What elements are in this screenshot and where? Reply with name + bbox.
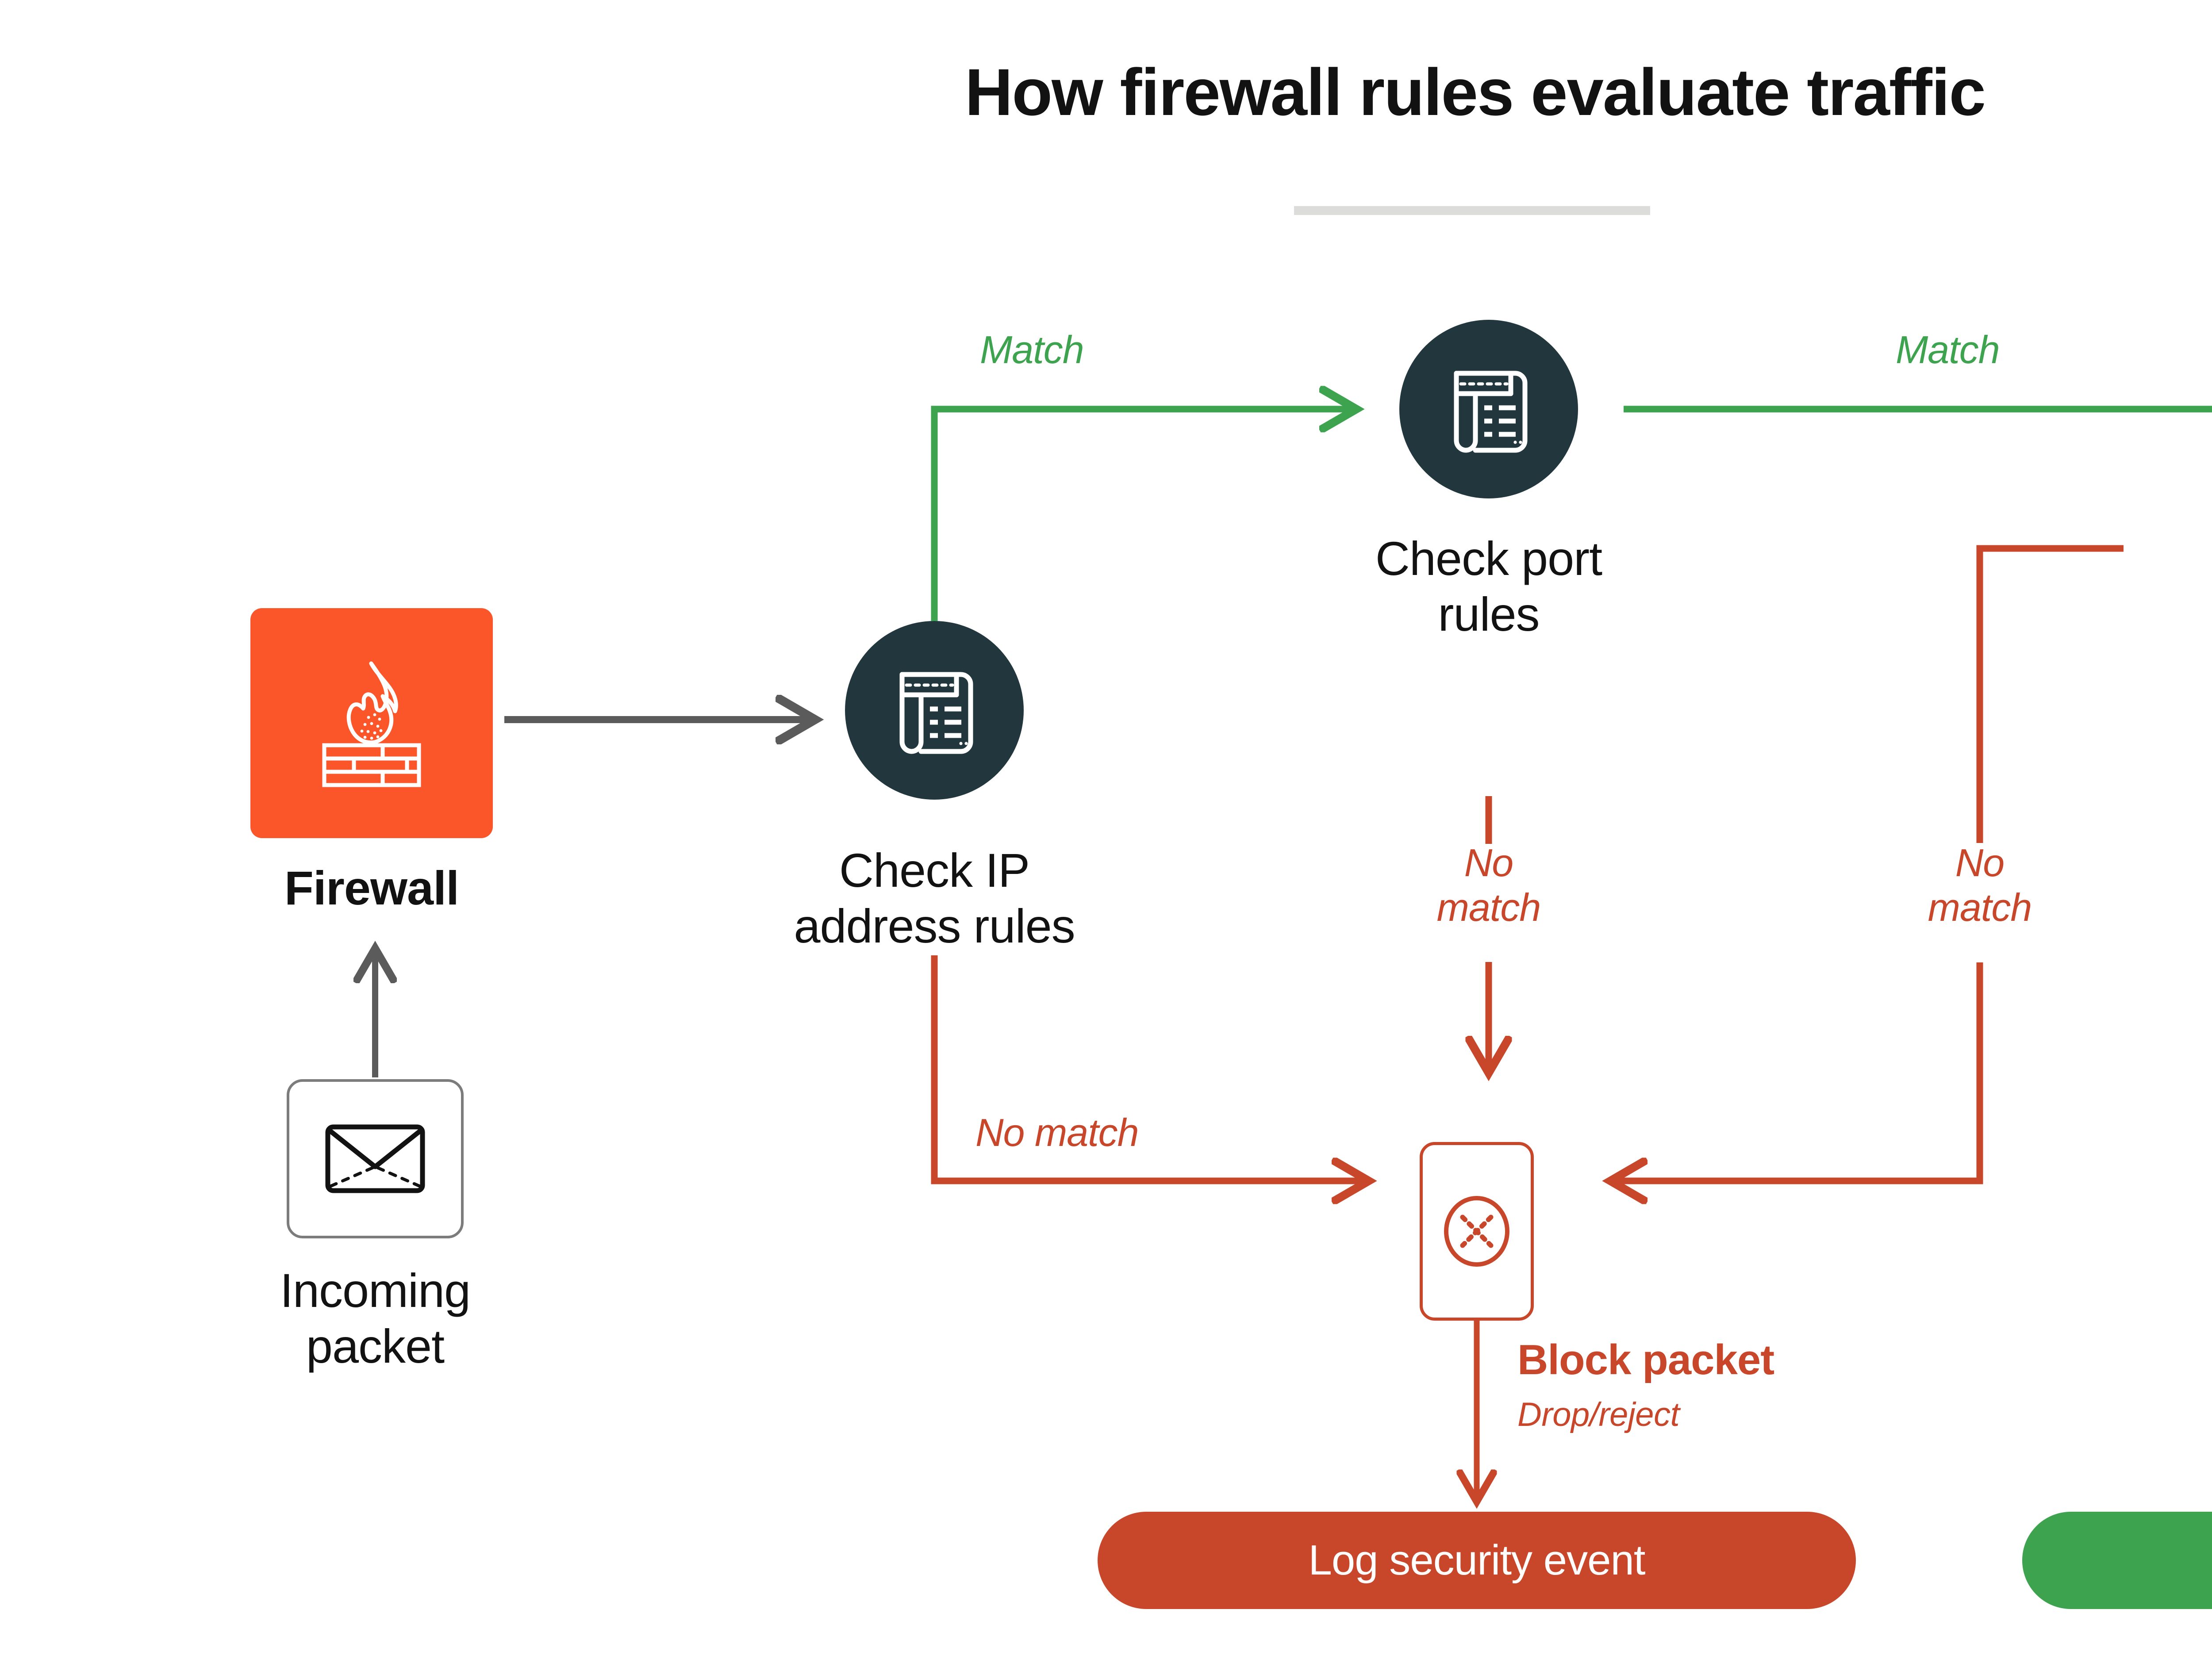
page-title: How firewall rules evaluate traffic bbox=[0, 57, 2212, 127]
edge-label-port-match: Match bbox=[1896, 327, 2000, 372]
diagram-canvas: How firewall rules evaluate traffic bbox=[0, 0, 2212, 1659]
rules-scroll-icon bbox=[879, 655, 990, 766]
check-ip-rules-node bbox=[845, 621, 1024, 800]
incoming-packet-tile bbox=[287, 1079, 464, 1238]
edge-label-protocol-no-match: No match bbox=[1887, 840, 2073, 930]
log-security-event-button[interactable]: Log security event bbox=[1098, 1512, 1856, 1609]
firewall-label: Firewall bbox=[150, 860, 593, 916]
check-port-rules-label: Check port rules bbox=[1267, 531, 1710, 643]
title-divider bbox=[1294, 206, 1650, 215]
firewall-tile bbox=[250, 608, 493, 838]
log-allowed-traffic-button[interactable]: Log allowed traffic bbox=[2022, 1512, 2212, 1609]
incoming-packet-label: Incoming packet bbox=[154, 1263, 596, 1375]
log-security-event-label: Log security event bbox=[1308, 1536, 1645, 1585]
edge-label-port-no-match: No match bbox=[1396, 840, 1582, 930]
block-packet-title: Block packet bbox=[1517, 1336, 1774, 1384]
envelope-icon bbox=[324, 1123, 426, 1194]
edge-label-ip-no-match: No match bbox=[975, 1110, 1139, 1155]
block-packet-subtitle: Drop/reject bbox=[1517, 1395, 1679, 1434]
edge-label-ip-match: Match bbox=[980, 327, 1084, 372]
check-ip-rules-label: Check IP address rules bbox=[713, 843, 1156, 954]
check-protocol-rules-label: Check protocol rules bbox=[2174, 531, 2212, 643]
circle-dotted-x-icon bbox=[1437, 1192, 1517, 1271]
rules-scroll-icon bbox=[1433, 354, 1544, 464]
check-port-rules-node bbox=[1399, 320, 1578, 498]
block-packet-tile bbox=[1420, 1142, 1534, 1321]
firewall-flame-brick-icon bbox=[299, 650, 445, 796]
